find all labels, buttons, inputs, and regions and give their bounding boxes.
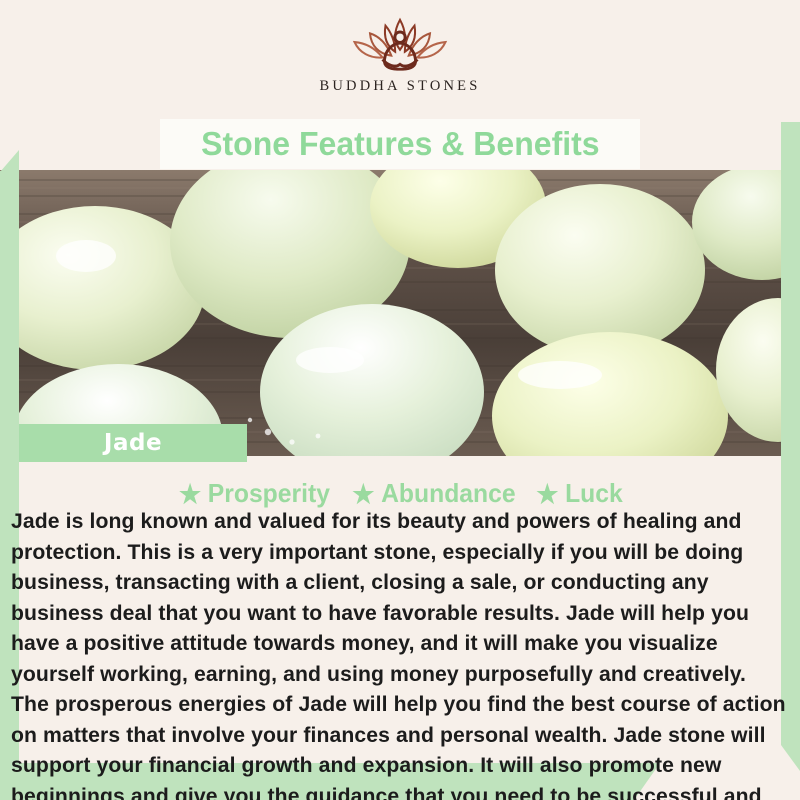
lotus-meditation-icon: [325, 14, 475, 74]
stone-description: Jade is long known and valued for its be…: [11, 506, 789, 800]
benefit-label: Prosperity: [208, 478, 330, 509]
stone-name-label: Jade: [104, 430, 162, 456]
benefit-item-luck: ★ Luck: [536, 478, 622, 509]
benefit-label: Luck: [565, 478, 623, 509]
page-title: Stone Features & Benefits: [201, 125, 599, 163]
content-area: ★ Prosperity ★ Abundance ★ Luck Jade is …: [19, 456, 781, 763]
star-icon: ★: [352, 481, 374, 507]
title-banner: Stone Features & Benefits: [160, 119, 640, 169]
brand-name: BUDDHA STONES: [320, 78, 481, 95]
star-icon: ★: [179, 481, 201, 507]
poster-canvas: BUDDHA STONES Stone Features & Benefits …: [0, 0, 800, 800]
frame-accent-left-tip: [0, 150, 19, 172]
brand-logo: BUDDHA STONES: [320, 14, 481, 95]
stone-name-band: Jade: [19, 424, 247, 462]
benefit-item-prosperity: ★ Prosperity: [179, 478, 330, 509]
brand-header: BUDDHA STONES: [0, 0, 800, 122]
benefits-list: ★ Prosperity ★ Abundance ★ Luck: [19, 478, 781, 509]
star-icon: ★: [536, 481, 558, 507]
benefit-label: Abundance: [381, 478, 515, 509]
benefit-item-abundance: ★ Abundance: [352, 478, 515, 509]
stone-photo: [0, 170, 800, 456]
